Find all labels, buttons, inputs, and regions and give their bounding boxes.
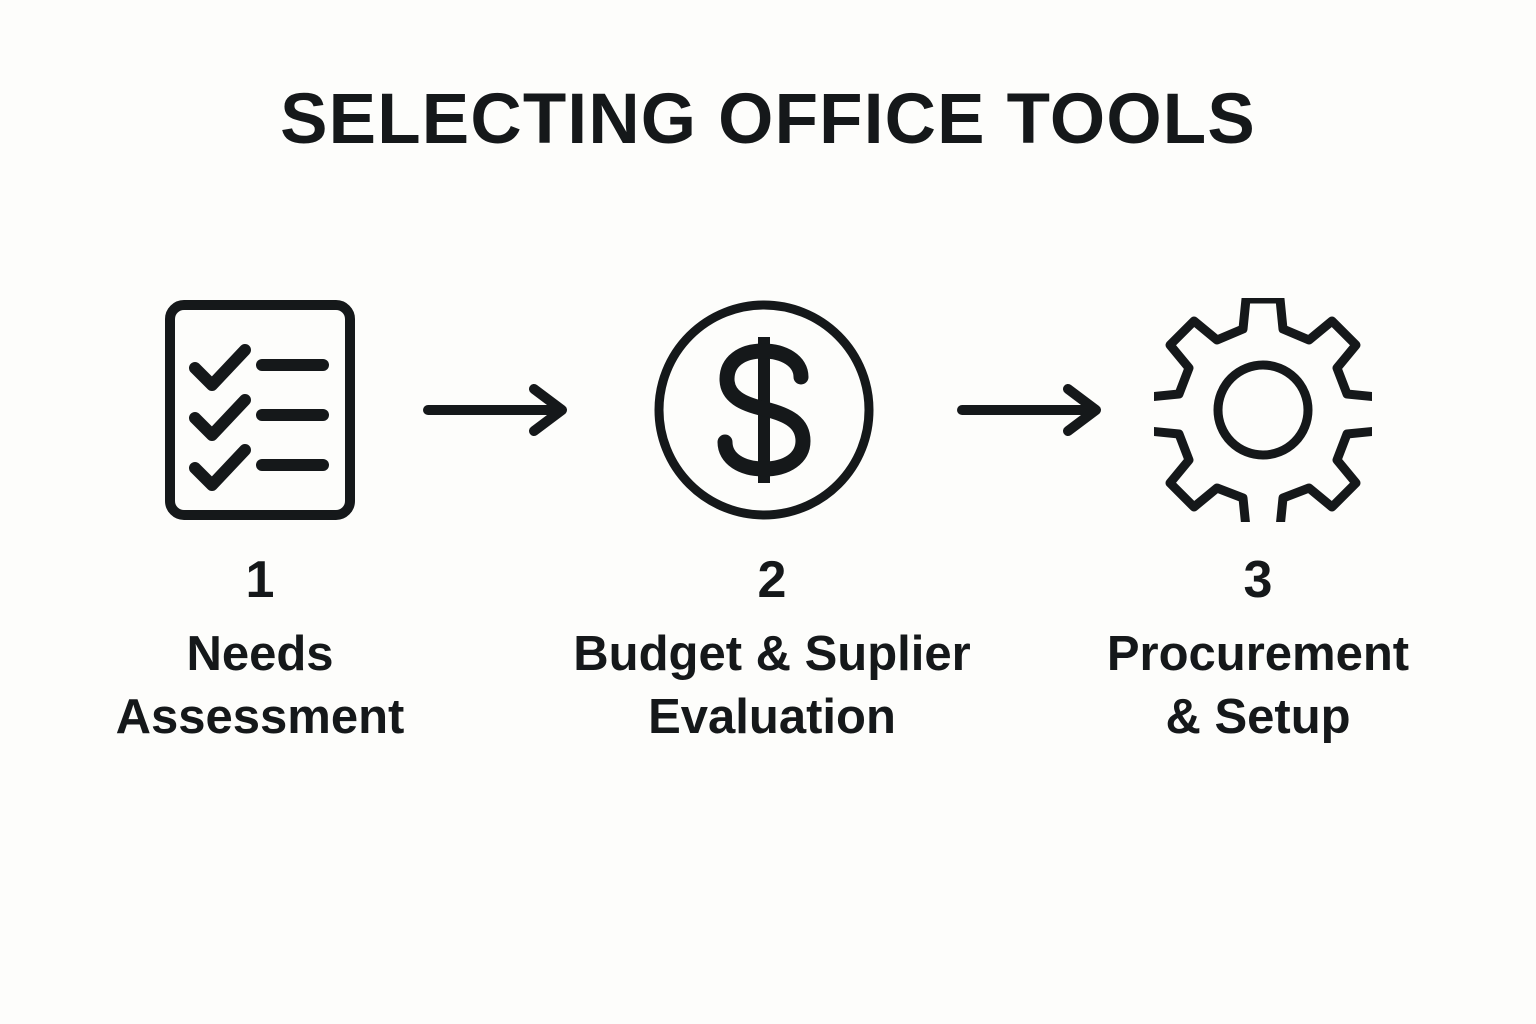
gear-icon bbox=[1154, 298, 1372, 522]
flow-connector-2 bbox=[952, 382, 1112, 438]
flow-connector-1 bbox=[418, 382, 578, 438]
step-2-caption: 2 Budget & Suplier Evaluation bbox=[542, 553, 1002, 749]
step-1-icon-slot bbox=[140, 290, 380, 530]
steps-caption-row: 1 Needs Assessment 2 Budget & Suplier Ev… bbox=[0, 553, 1536, 783]
step-1-label-line-2: Assessment bbox=[30, 686, 490, 749]
steps-icon-row bbox=[0, 290, 1536, 530]
step-2-number: 2 bbox=[542, 553, 1002, 607]
step-2-label-line-2: Evaluation bbox=[542, 686, 1002, 749]
step-3-label-line-1: Procurement bbox=[1028, 623, 1488, 686]
step-3-label-line-2: & Setup bbox=[1028, 686, 1488, 749]
step-3-caption: 3 Procurement & Setup bbox=[1028, 553, 1488, 749]
infographic-canvas: SELECTING OFFICE TOOLS bbox=[0, 0, 1536, 1024]
step-1-label-line-1: Needs bbox=[30, 623, 490, 686]
step-3-icon-slot bbox=[1143, 290, 1383, 530]
arrow-right-icon bbox=[422, 383, 574, 437]
step-2-label-line-1: Budget & Suplier bbox=[542, 623, 1002, 686]
step-2-icon-slot bbox=[644, 290, 884, 530]
step-1-label: Needs Assessment bbox=[30, 623, 490, 748]
arrow-right-icon bbox=[956, 383, 1108, 437]
step-1-number: 1 bbox=[30, 553, 490, 607]
page-title: SELECTING OFFICE TOOLS bbox=[0, 84, 1536, 155]
step-3-label: Procurement & Setup bbox=[1028, 623, 1488, 748]
step-2-label: Budget & Suplier Evaluation bbox=[542, 623, 1002, 748]
step-1-caption: 1 Needs Assessment bbox=[30, 553, 490, 749]
dollar-circle-icon bbox=[653, 299, 875, 521]
step-3-number: 3 bbox=[1028, 553, 1488, 607]
checklist-icon bbox=[165, 300, 355, 520]
